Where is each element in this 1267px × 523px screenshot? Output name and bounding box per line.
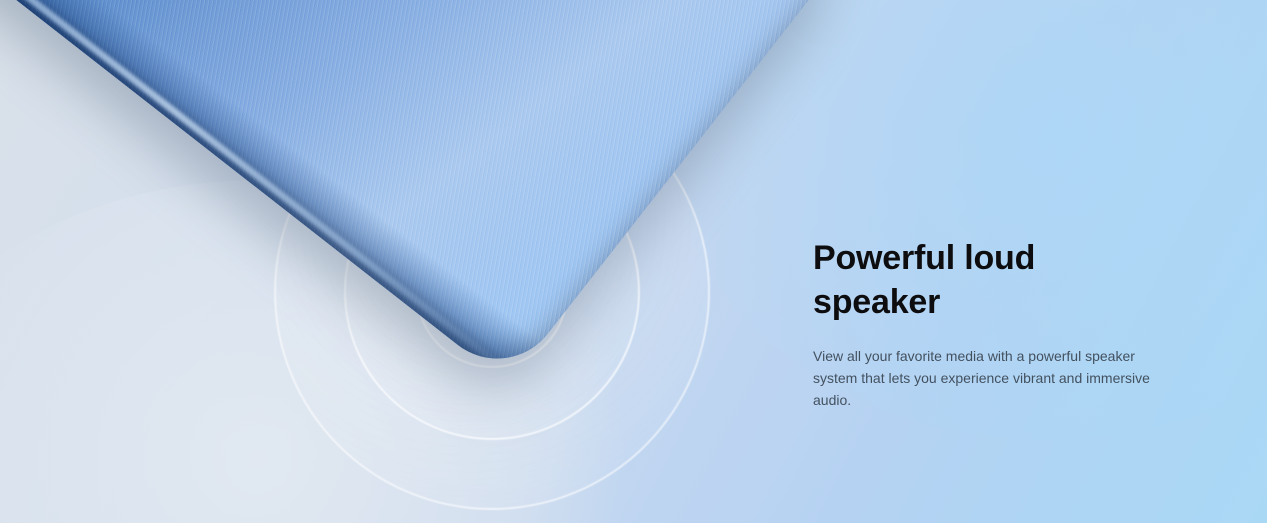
body-text: View all your favorite media with a powe… [813,345,1158,411]
copy-block: Powerful loud speaker View all your favo… [813,236,1158,411]
phone-image [0,0,853,384]
product-feature-banner: Powerful loud speaker View all your favo… [0,0,1267,523]
headline: Powerful loud speaker [813,236,1158,324]
